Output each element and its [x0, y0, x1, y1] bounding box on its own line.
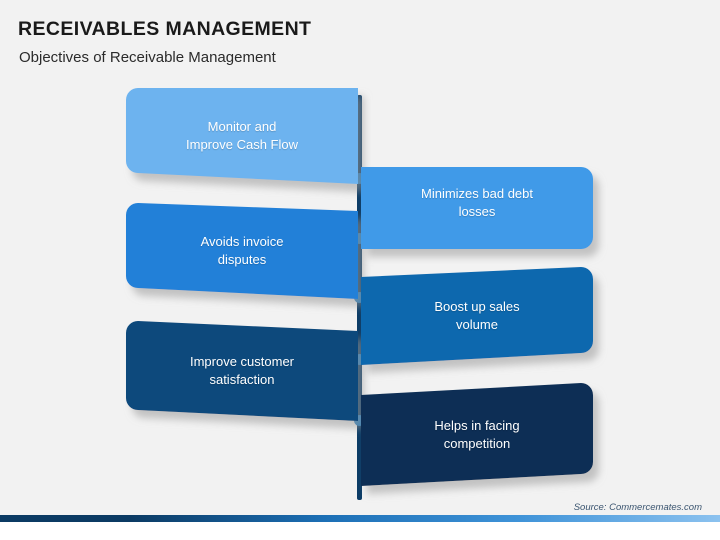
banner-right-3[interactable]: Helps in facing competition	[361, 383, 593, 486]
banner-left-2[interactable]: Avoids invoice disputes	[126, 203, 358, 299]
banner-right-2[interactable]: Boost up sales volume	[361, 267, 593, 365]
banner-right-1[interactable]: Minimizes bad debt losses	[361, 157, 593, 249]
bottom-white-bar	[0, 522, 720, 540]
banner-left-2-label: Avoids invoice disputes	[201, 233, 284, 268]
banner-left-1-label: Monitor and Improve Cash Flow	[186, 118, 298, 153]
page-subtitle: Objectives of Receivable Management	[19, 49, 276, 66]
banner-right-2-label: Boost up sales volume	[434, 298, 519, 333]
banner-left-3-label: Improve customer satisfaction	[190, 353, 294, 388]
banner-left-3[interactable]: Improve customer satisfaction	[126, 321, 358, 421]
bottom-accent-bar	[0, 515, 720, 522]
slide: RECEIVABLES MANAGEMENT Objectives of Rec…	[0, 0, 720, 540]
banner-right-3-label: Helps in facing competition	[434, 417, 519, 452]
banner-left-1[interactable]: Monitor and Improve Cash Flow	[126, 88, 358, 184]
banner-right-1-label: Minimizes bad debt losses	[421, 185, 533, 220]
page-title: RECEIVABLES MANAGEMENT	[18, 18, 311, 41]
source-credit: Source: Commercemates.com	[574, 502, 702, 513]
